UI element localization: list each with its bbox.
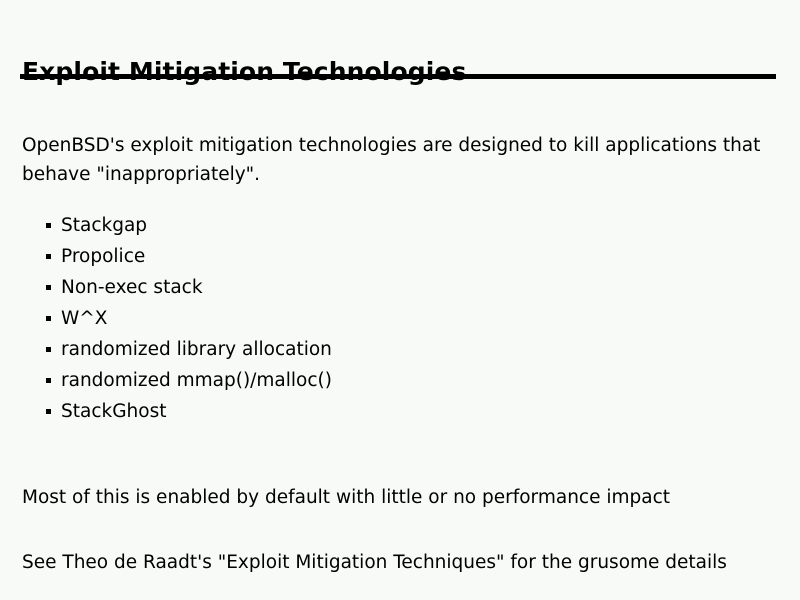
list-item: Non-exec stack xyxy=(46,272,746,303)
page-title: Exploit Mitigation Technologies xyxy=(22,57,466,87)
square-bullet-icon xyxy=(46,316,51,321)
list-item: StackGhost xyxy=(46,396,746,427)
list-item: W^X xyxy=(46,303,746,334)
square-bullet-icon xyxy=(46,254,51,259)
list-item: Stackgap xyxy=(46,210,746,241)
list-item-label: StackGhost xyxy=(61,401,167,422)
intro-paragraph: OpenBSD's exploit mitigation technologie… xyxy=(22,131,786,189)
slide: Exploit Mitigation Technologies OpenBSD'… xyxy=(0,0,800,600)
square-bullet-icon xyxy=(46,285,51,290)
list-item-label: randomized library allocation xyxy=(61,339,332,360)
list-item-label: W^X xyxy=(61,308,107,329)
list-item-label: Propolice xyxy=(61,246,145,267)
square-bullet-icon xyxy=(46,347,51,352)
list-item-label: Stackgap xyxy=(61,215,147,236)
square-bullet-icon xyxy=(46,378,51,383)
list-item-label: Non-exec stack xyxy=(61,277,203,298)
square-bullet-icon xyxy=(46,223,51,228)
list-item: randomized library allocation xyxy=(46,334,746,365)
list-item-label: randomized mmap()/malloc() xyxy=(61,370,332,391)
list-item: randomized mmap()/malloc() xyxy=(46,365,746,396)
square-bullet-icon xyxy=(46,409,51,414)
mitigation-list: Stackgap Propolice Non-exec stack W^X ra… xyxy=(46,210,746,427)
closing-paragraph-performance: Most of this is enabled by default with … xyxy=(22,483,786,512)
list-item: Propolice xyxy=(46,241,746,272)
title-divider xyxy=(20,74,776,79)
closing-paragraph-reference: See Theo de Raadt's "Exploit Mitigation … xyxy=(22,545,780,581)
